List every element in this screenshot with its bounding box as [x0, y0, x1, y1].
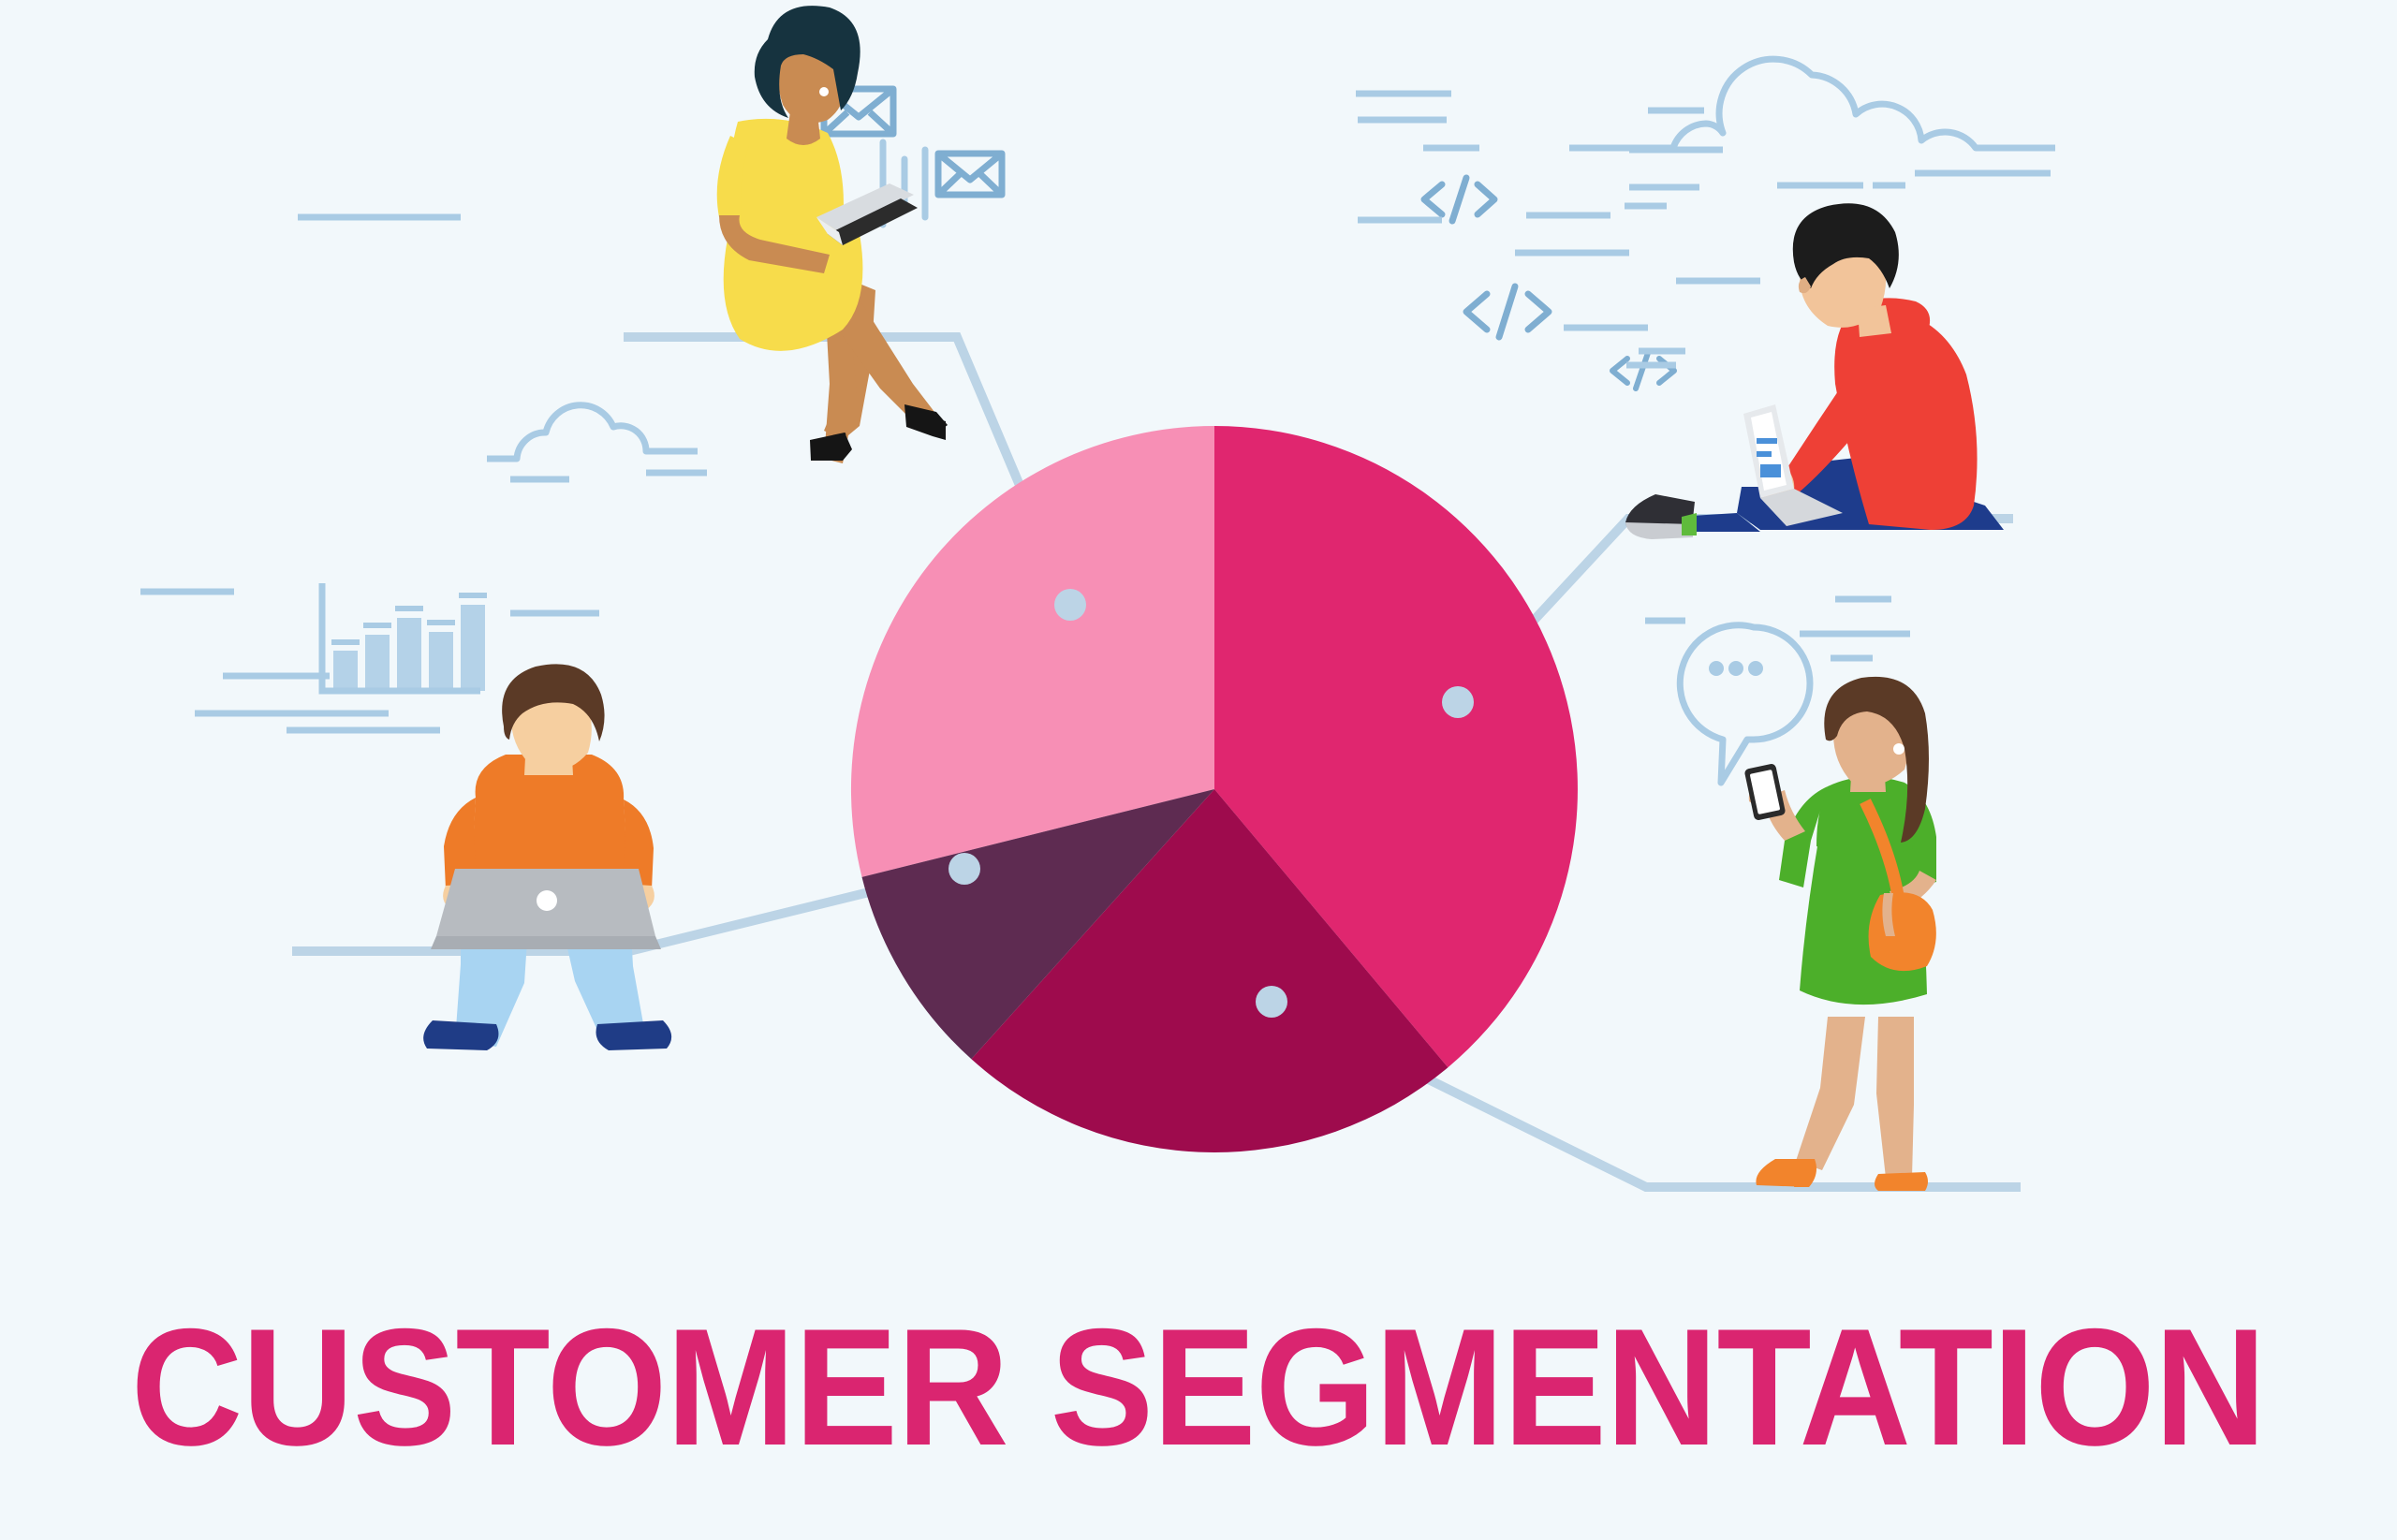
connector-dot-segment-b[interactable]	[1256, 986, 1287, 1018]
connector-dot-segment-c[interactable]	[949, 853, 980, 885]
laptop-icon	[431, 869, 661, 949]
connector-dot-segment-d[interactable]	[1054, 589, 1086, 621]
illustration-canvas: CUSTOMER SEGMENTATION	[0, 0, 2397, 1540]
pie-chart	[851, 426, 1578, 1152]
page-title-wrapper: CUSTOMER SEGMENTATION	[0, 1304, 2397, 1471]
connector-dot-segment-a[interactable]	[1442, 686, 1474, 718]
page-title: CUSTOMER SEGMENTATION	[131, 1304, 2266, 1471]
